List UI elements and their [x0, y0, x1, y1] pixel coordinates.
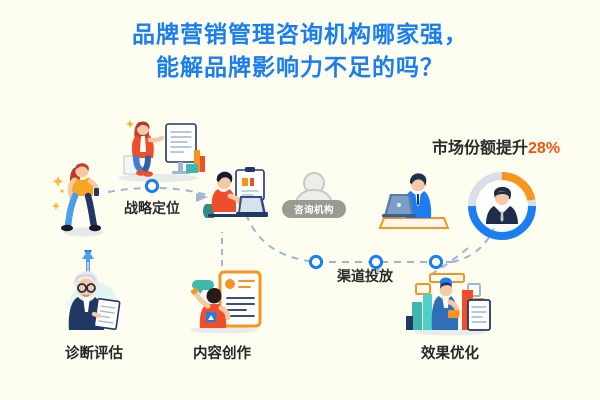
flow-node-channel-1	[310, 256, 321, 267]
market-share-donut-chart	[464, 168, 540, 244]
poster-canvas: 品牌营销管理咨询机构哪家强， 能解品牌影响力不足的吗？ 市场份额提升28%	[0, 0, 600, 400]
flow-node-channel-2	[370, 256, 381, 267]
flow-node-channel-3	[430, 256, 441, 267]
flow-node-upper	[146, 180, 157, 191]
